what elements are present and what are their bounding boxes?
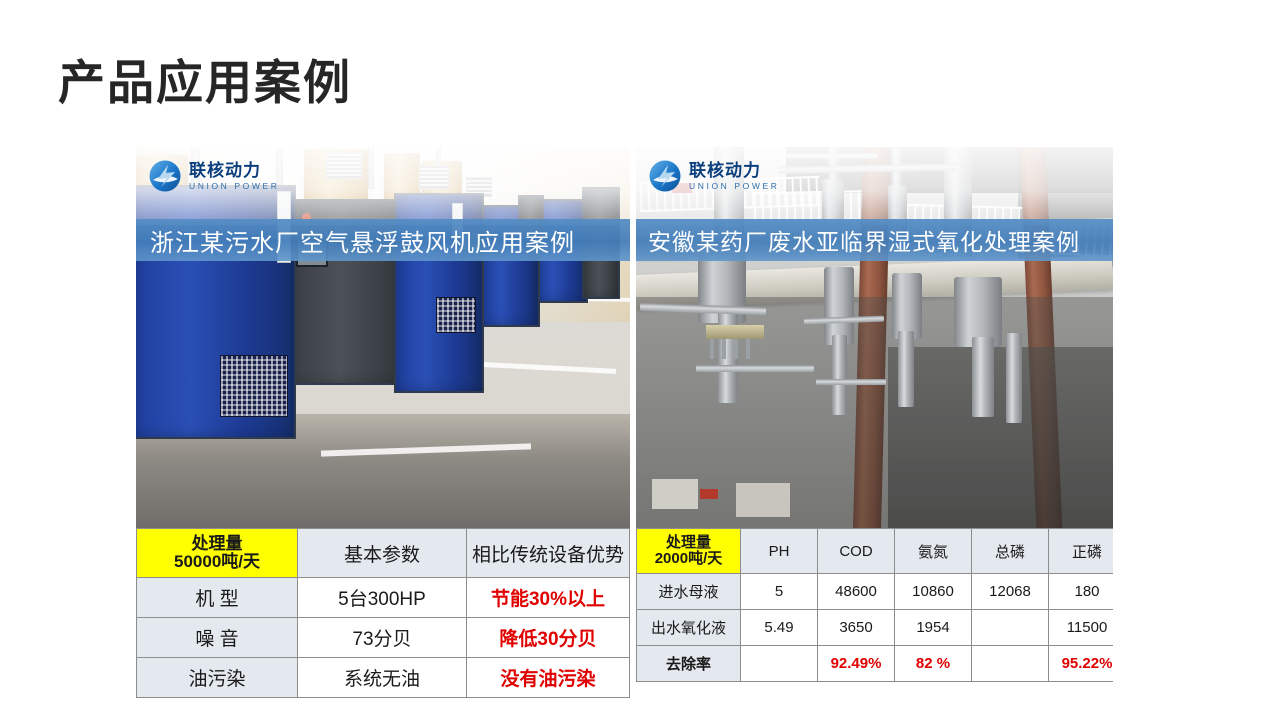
page-title: 产品应用案例 bbox=[58, 57, 352, 109]
row-cell: 5 bbox=[741, 574, 818, 610]
row-cell: 3650 bbox=[818, 610, 895, 646]
row-advantage: 没有油污染 bbox=[467, 658, 630, 698]
photo-sign bbox=[700, 489, 718, 499]
photo-nozzle bbox=[710, 339, 714, 359]
brand-logo: 联核动力 UNION POWER bbox=[648, 159, 779, 193]
row-label: 噪 音 bbox=[137, 618, 298, 658]
row-cell bbox=[972, 646, 1049, 682]
photo-pipe bbox=[1006, 333, 1022, 423]
case-caption-text: 安徽某药厂废水亚临界湿式氧化处理案例 bbox=[636, 223, 1080, 257]
table-row: 出水氧化液 5.49 3650 1954 11500 bbox=[637, 610, 1114, 646]
photo-grill bbox=[436, 297, 476, 333]
brand-name-cn: 联核动力 bbox=[689, 162, 779, 179]
row-cell: 11500 bbox=[1049, 610, 1114, 646]
table-row: 机 型 5台300HP 节能30%以上 bbox=[137, 578, 630, 618]
row-cell: 1954 bbox=[895, 610, 972, 646]
row-advantage: 降低30分贝 bbox=[467, 618, 630, 658]
table-header-row: 处理量 2000吨/天 PH COD 氨氮 总磷 正磷 bbox=[637, 529, 1114, 574]
table-header-basic-params: 基本参数 bbox=[298, 529, 467, 578]
photo-pipe-horizontal bbox=[696, 365, 814, 372]
case-photo-plant: 联核动力 UNION POWER 安徽某药厂废水亚临界湿式氧化处理案例 bbox=[636, 147, 1113, 528]
union-power-wing-logo-icon bbox=[148, 159, 182, 193]
row-cell: 5.49 bbox=[741, 610, 818, 646]
brand-name-cn: 联核动力 bbox=[189, 162, 279, 179]
table-header-advantage: 相比传统设备优势 bbox=[467, 529, 630, 578]
row-cell bbox=[972, 610, 1049, 646]
photo-nozzle bbox=[722, 339, 726, 359]
photo-equipment-box bbox=[652, 479, 698, 509]
brand-logo: 联核动力 UNION POWER bbox=[148, 159, 279, 193]
case-caption-text: 浙江某污水厂空气悬浮鼓风机应用案例 bbox=[136, 223, 575, 258]
table-header-throughput: 处理量 50000吨/天 bbox=[137, 529, 298, 578]
case-panel-right: 联核动力 UNION POWER 安徽某药厂废水亚临界湿式氧化处理案例 处理量 … bbox=[636, 147, 1113, 682]
row-cell: 82 % bbox=[895, 646, 972, 682]
brand-name-en: UNION POWER bbox=[689, 182, 779, 191]
row-cell bbox=[741, 646, 818, 682]
row-label: 进水母液 bbox=[637, 574, 741, 610]
photo-pipe-horizontal bbox=[816, 379, 886, 385]
row-label: 去除率 bbox=[637, 646, 741, 682]
row-cell: 48600 bbox=[818, 574, 895, 610]
table-row-removal-rate: 去除率 92.49% 82 % 95.22% bbox=[637, 646, 1114, 682]
photo-pipe bbox=[832, 335, 847, 415]
case-panel-left: 联核动力 UNION POWER 浙江某污水厂空气悬浮鼓风机应用案例 处理量 5… bbox=[136, 147, 630, 698]
union-power-wing-logo-icon bbox=[648, 159, 682, 193]
table-header-cod: COD bbox=[818, 529, 895, 574]
photo-lower-background bbox=[888, 347, 1113, 528]
brand-logo-text: 联核动力 UNION POWER bbox=[689, 162, 779, 191]
photo-nozzle bbox=[734, 339, 738, 359]
spec-table-left: 处理量 50000吨/天 基本参数 相比传统设备优势 机 型 5台300HP 节… bbox=[136, 528, 630, 698]
photo-manifold bbox=[706, 325, 764, 339]
photo-vessel bbox=[824, 267, 854, 345]
case-photo-blower-room: 联核动力 UNION POWER 浙江某污水厂空气悬浮鼓风机应用案例 bbox=[136, 147, 630, 528]
table-row: 噪 音 73分贝 降低30分贝 bbox=[137, 618, 630, 658]
photo-floor-highlight bbox=[466, 361, 616, 374]
table-header-throughput: 处理量 2000吨/天 bbox=[637, 529, 741, 574]
case-caption-bar: 浙江某污水厂空气悬浮鼓风机应用案例 bbox=[136, 219, 630, 261]
spec-table-right: 处理量 2000吨/天 PH COD 氨氮 总磷 正磷 进水母液 5 48600… bbox=[636, 528, 1113, 682]
row-value: 系统无油 bbox=[298, 658, 467, 698]
photo-vessel bbox=[892, 273, 922, 339]
brand-logo-text: 联核动力 UNION POWER bbox=[189, 162, 279, 191]
row-value: 5台300HP bbox=[298, 578, 467, 618]
table-header-ph: PH bbox=[741, 529, 818, 574]
row-cell: 12068 bbox=[972, 574, 1049, 610]
table-header-ammonia-nitrogen: 氨氮 bbox=[895, 529, 972, 574]
table-row: 进水母液 5 48600 10860 12068 180 bbox=[637, 574, 1114, 610]
photo-nozzle bbox=[746, 339, 750, 359]
table-header-row: 处理量 50000吨/天 基本参数 相比传统设备优势 bbox=[137, 529, 630, 578]
row-cell: 180 bbox=[1049, 574, 1114, 610]
row-cell: 92.49% bbox=[818, 646, 895, 682]
table-header-total-phosphorus: 总磷 bbox=[972, 529, 1049, 574]
case-caption-bar: 安徽某药厂废水亚临界湿式氧化处理案例 bbox=[636, 219, 1113, 261]
photo-equipment-box bbox=[736, 483, 790, 517]
row-cell: 95.22% bbox=[1049, 646, 1114, 682]
row-advantage: 节能30%以上 bbox=[467, 578, 630, 618]
brand-name-en: UNION POWER bbox=[189, 182, 279, 191]
table-row: 油污染 系统无油 没有油污染 bbox=[137, 658, 630, 698]
photo-pipe bbox=[972, 337, 994, 417]
row-cell: 10860 bbox=[895, 574, 972, 610]
row-value: 73分贝 bbox=[298, 618, 467, 658]
row-label: 油污染 bbox=[137, 658, 298, 698]
row-label: 机 型 bbox=[137, 578, 298, 618]
row-label: 出水氧化液 bbox=[637, 610, 741, 646]
photo-grill bbox=[220, 355, 288, 417]
photo-pipe bbox=[898, 331, 914, 407]
table-header-orthophosphate: 正磷 bbox=[1049, 529, 1114, 574]
